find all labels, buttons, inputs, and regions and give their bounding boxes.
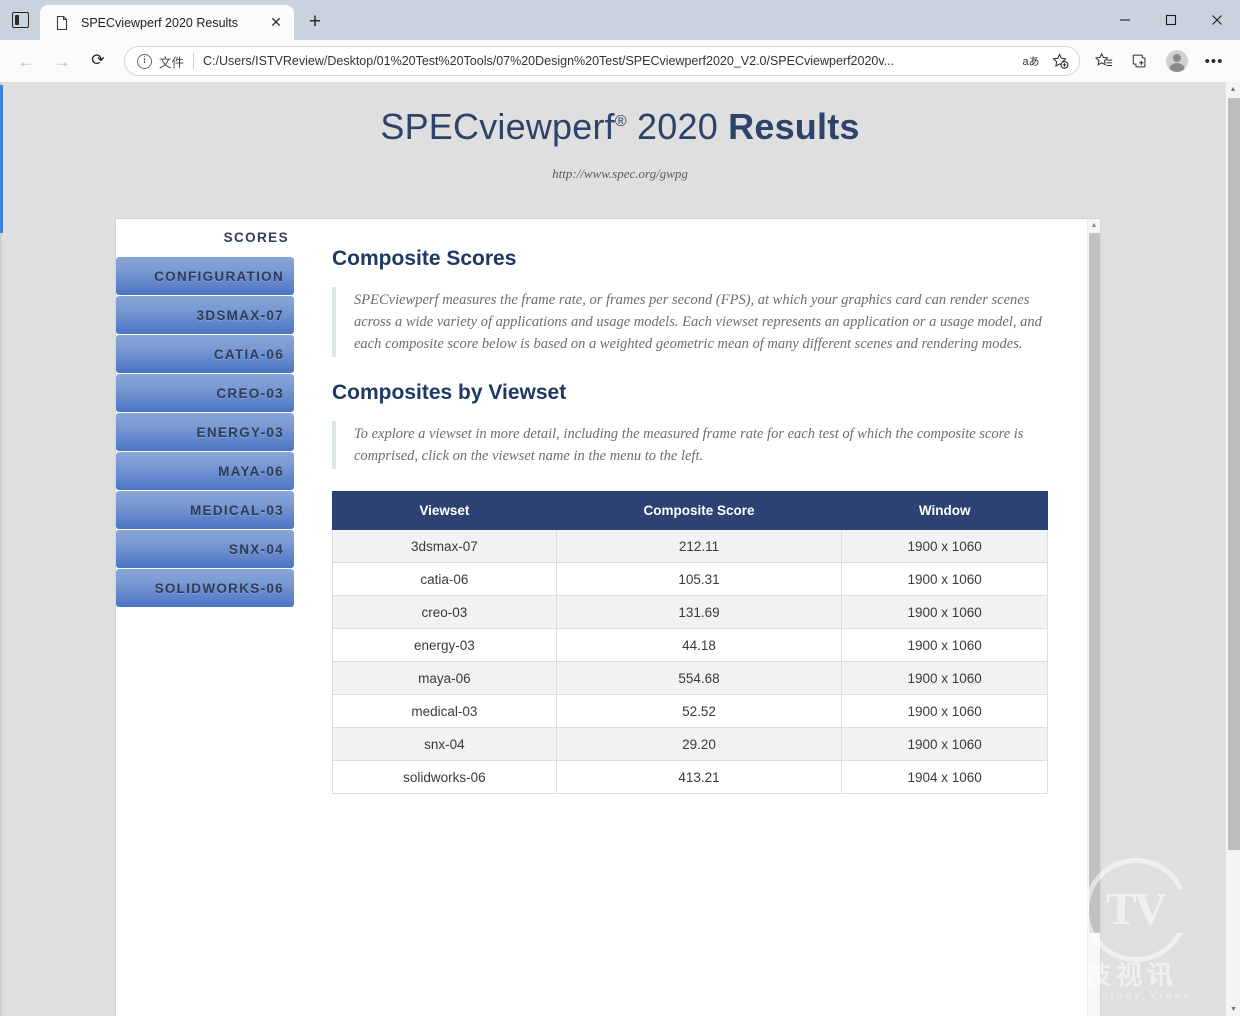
cell-composite-score: 212.11 bbox=[556, 530, 842, 563]
page-icon bbox=[54, 15, 70, 31]
section-heading-composites-by-viewset: Composites by Viewset bbox=[332, 381, 1062, 405]
browser-toolbar: ← → ⟳ i 文件 C:/Users/ISTVReview/Desktop/0… bbox=[0, 40, 1240, 82]
page-title-year: 2020 bbox=[627, 106, 728, 147]
cell-viewset: medical-03 bbox=[333, 695, 557, 728]
cell-composite-score: 52.52 bbox=[556, 695, 842, 728]
maximize-button[interactable] bbox=[1148, 0, 1194, 40]
page-title-main: SPECviewperf bbox=[380, 106, 614, 147]
panel-scrollbar-thumb[interactable] bbox=[1089, 233, 1100, 933]
favorites-star-list-icon bbox=[1095, 52, 1113, 70]
tab-title: SPECviewperf 2020 Results bbox=[81, 16, 264, 30]
page-title-bold: Results bbox=[728, 106, 859, 147]
cell-window: 1900 x 1060 bbox=[842, 662, 1048, 695]
table-row: medical-03 52.52 1900 x 1060 bbox=[333, 695, 1048, 728]
section-heading-composite-scores: Composite Scores bbox=[332, 247, 1062, 271]
browser-window: SPECviewperf 2020 Results ✕ + ← → ⟳ bbox=[0, 0, 1240, 1016]
table-row: catia-06 105.31 1900 x 1060 bbox=[333, 563, 1048, 596]
ellipsis-icon: ••• bbox=[1205, 53, 1224, 70]
browser-scrollbar[interactable]: ▲ ▼ bbox=[1225, 82, 1240, 1016]
address-bar[interactable]: i 文件 C:/Users/ISTVReview/Desktop/01%20Te… bbox=[124, 46, 1080, 76]
cell-window: 1904 x 1060 bbox=[842, 761, 1048, 794]
composite-scores-note: SPECviewperf measures the frame rate, or… bbox=[332, 287, 1062, 357]
page-title: SPECviewperf® 2020 Results bbox=[0, 106, 1240, 148]
watermark-logo-text: TV bbox=[1106, 886, 1164, 932]
cell-viewset: solidworks-06 bbox=[333, 761, 557, 794]
sidebar-item-label: CONFIGURATION bbox=[154, 269, 284, 284]
url-text: C:/Users/ISTVReview/Desktop/01%20Test%20… bbox=[203, 54, 1017, 68]
scroll-down-icon[interactable]: ▼ bbox=[1226, 1002, 1240, 1016]
divider bbox=[193, 53, 194, 69]
sidebar-item-label: CATIA-06 bbox=[214, 347, 284, 362]
scheme-label: 文件 bbox=[159, 52, 184, 71]
cell-viewset: catia-06 bbox=[333, 563, 557, 596]
cell-window: 1900 x 1060 bbox=[842, 629, 1048, 662]
sidebar-item-label: SOLIDWORKS-06 bbox=[155, 581, 284, 596]
sidebar-item-catia-06[interactable]: CATIA-06 bbox=[116, 335, 294, 373]
cell-composite-score: 554.68 bbox=[556, 662, 842, 695]
forward-arrow-icon: → bbox=[54, 53, 71, 70]
sidebar-item-solidworks-06[interactable]: SOLIDWORKS-06 bbox=[116, 569, 294, 607]
table-row: snx-04 29.20 1900 x 1060 bbox=[333, 728, 1048, 761]
column-header-window: Window bbox=[842, 492, 1048, 530]
cell-window: 1900 x 1060 bbox=[842, 530, 1048, 563]
sidebar: SCORES CONFIGURATION 3DSMAX-07 CATIA-06 … bbox=[116, 219, 294, 1016]
minimize-button[interactable] bbox=[1102, 0, 1148, 40]
note-text: To explore a viewset in more detail, inc… bbox=[354, 423, 1062, 467]
profile-button[interactable] bbox=[1158, 45, 1196, 77]
avatar bbox=[1166, 50, 1188, 72]
cell-viewset: 3dsmax-07 bbox=[333, 530, 557, 563]
window-controls bbox=[1102, 0, 1240, 40]
back-button[interactable]: ← bbox=[8, 45, 44, 77]
tab-list-icon bbox=[12, 12, 29, 28]
cell-composite-score: 29.20 bbox=[556, 728, 842, 761]
sidebar-item-3dsmax-07[interactable]: 3DSMAX-07 bbox=[116, 296, 294, 334]
sidebar-item-configuration[interactable]: CONFIGURATION bbox=[116, 257, 294, 295]
sidebar-item-label: MEDICAL-03 bbox=[190, 503, 284, 518]
close-icon[interactable]: ✕ bbox=[264, 11, 288, 35]
cell-viewset: snx-04 bbox=[333, 728, 557, 761]
settings-and-more-button[interactable]: ••• bbox=[1196, 45, 1232, 77]
read-aloud-icon[interactable]: aあ bbox=[1017, 48, 1045, 74]
forward-button[interactable]: → bbox=[44, 45, 80, 77]
main-content: Composite Scores SPECviewperf measures t… bbox=[294, 219, 1100, 1016]
page-viewport: SPECviewperf® 2020 Results http://www.sp… bbox=[0, 82, 1240, 1016]
back-arrow-icon: ← bbox=[18, 53, 35, 70]
page-subtitle: http://www.spec.org/gwpg bbox=[0, 166, 1240, 182]
sidebar-heading: SCORES bbox=[116, 219, 294, 256]
collections-button[interactable] bbox=[1122, 45, 1158, 77]
results-panel: SCORES CONFIGURATION 3DSMAX-07 CATIA-06 … bbox=[116, 219, 1100, 1016]
browser-scrollbar-thumb[interactable] bbox=[1228, 98, 1240, 850]
panel-scrollbar[interactable]: ▲ bbox=[1087, 219, 1100, 1016]
reload-icon: ⟳ bbox=[91, 53, 104, 69]
sidebar-item-label: CREO-03 bbox=[216, 386, 284, 401]
note-text: SPECviewperf measures the frame rate, or… bbox=[354, 289, 1062, 355]
sidebar-item-energy-03[interactable]: ENERGY-03 bbox=[116, 413, 294, 451]
column-header-viewset: Viewset bbox=[333, 492, 557, 530]
sidebar-item-label: ENERGY-03 bbox=[197, 425, 284, 440]
tab-list-button[interactable] bbox=[0, 0, 40, 40]
sidebar-item-medical-03[interactable]: MEDICAL-03 bbox=[116, 491, 294, 529]
column-header-composite-score: Composite Score bbox=[556, 492, 842, 530]
close-window-button[interactable] bbox=[1194, 0, 1240, 40]
cell-window: 1900 x 1060 bbox=[842, 596, 1048, 629]
cell-composite-score: 44.18 bbox=[556, 629, 842, 662]
composite-scores-table: Viewset Composite Score Window 3dsmax-07… bbox=[332, 491, 1048, 794]
scroll-position-indicator bbox=[0, 85, 3, 233]
cell-viewset: maya-06 bbox=[333, 662, 557, 695]
cell-viewset: energy-03 bbox=[333, 629, 557, 662]
cell-window: 1900 x 1060 bbox=[842, 695, 1048, 728]
sidebar-item-creo-03[interactable]: CREO-03 bbox=[116, 374, 294, 412]
sidebar-item-maya-06[interactable]: MAYA-06 bbox=[116, 452, 294, 490]
browser-tab[interactable]: SPECviewperf 2020 Results ✕ bbox=[40, 5, 294, 40]
sidebar-item-label: MAYA-06 bbox=[218, 464, 284, 479]
sidebar-item-snx-04[interactable]: SNX-04 bbox=[116, 530, 294, 568]
cell-composite-score: 413.21 bbox=[556, 761, 842, 794]
reload-button[interactable]: ⟳ bbox=[80, 45, 116, 77]
sidebar-item-label: SNX-04 bbox=[229, 542, 284, 557]
cell-composite-score: 105.31 bbox=[556, 563, 842, 596]
table-row: solidworks-06 413.21 1904 x 1060 bbox=[333, 761, 1048, 794]
cell-composite-score: 131.69 bbox=[556, 596, 842, 629]
composites-by-viewset-note: To explore a viewset in more detail, inc… bbox=[332, 421, 1062, 469]
scroll-up-icon[interactable]: ▲ bbox=[1088, 219, 1100, 232]
scroll-up-icon[interactable]: ▲ bbox=[1226, 82, 1240, 96]
page-header: SPECviewperf® 2020 Results http://www.sp… bbox=[0, 82, 1240, 182]
table-body: 3dsmax-07 212.11 1900 x 1060 catia-06 10… bbox=[333, 530, 1048, 794]
cell-viewset: creo-03 bbox=[333, 596, 557, 629]
collections-icon bbox=[1131, 52, 1149, 70]
table-row: 3dsmax-07 212.11 1900 x 1060 bbox=[333, 530, 1048, 563]
cell-window: 1900 x 1060 bbox=[842, 563, 1048, 596]
browser-titlebar: SPECviewperf 2020 Results ✕ + bbox=[0, 0, 1240, 40]
sidebar-item-label: 3DSMAX-07 bbox=[197, 308, 284, 323]
table-row: maya-06 554.68 1900 x 1060 bbox=[333, 662, 1048, 695]
info-icon[interactable]: i bbox=[137, 54, 152, 69]
table-row: creo-03 131.69 1900 x 1060 bbox=[333, 596, 1048, 629]
favorites-button[interactable] bbox=[1086, 45, 1122, 77]
registered-trademark-icon: ® bbox=[615, 113, 627, 130]
cell-window: 1900 x 1060 bbox=[842, 728, 1048, 761]
new-tab-button[interactable]: + bbox=[298, 5, 332, 39]
add-favorite-star-icon[interactable] bbox=[1045, 46, 1075, 76]
table-row: energy-03 44.18 1900 x 1060 bbox=[333, 629, 1048, 662]
table-header-row: Viewset Composite Score Window bbox=[333, 492, 1048, 530]
